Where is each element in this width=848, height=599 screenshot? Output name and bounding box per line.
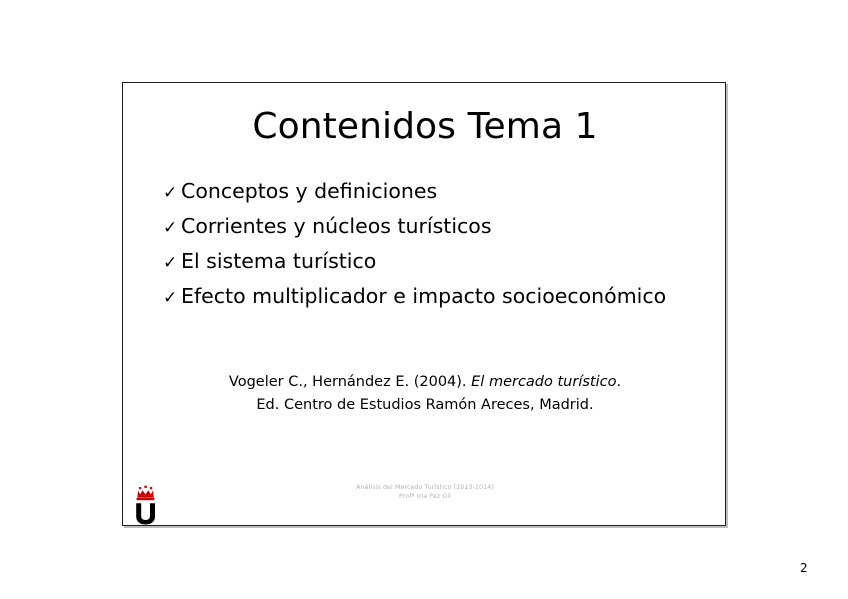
citation-line-1: Vogeler C., Hernández E. (2004). El merc… [123,371,727,394]
logo-letter-u [136,503,155,524]
citation-line-2: Ed. Centro de Estudios Ramón Areces, Mad… [123,394,727,417]
page-number: 2 [800,561,830,575]
page-title: Contenidos Tema 1 [123,107,727,147]
list-item-label: Corrientes y núcleos turísticos [181,214,492,238]
citation-book-title: El mercado turístico [471,374,616,390]
page-canvas: Contenidos Tema 1 ✓Conceptos y definicio… [0,0,848,599]
check-icon: ✓ [163,255,181,272]
footer-course-line: Análisis del Mercado Turístico (2013-201… [123,483,727,492]
citation-block: Vogeler C., Hernández E. (2004). El merc… [123,371,727,418]
list-item: ✓Efecto multiplicador e impacto socioeco… [163,286,723,307]
check-icon: ✓ [163,220,181,237]
urjc-logo [133,485,159,525]
list-item-label: Conceptos y definiciones [181,179,437,203]
slide-footer: Análisis del Mercado Turístico (2013-201… [123,483,727,502]
list-item: ✓El sistema turístico [163,251,723,272]
list-item-label: El sistema turístico [181,249,376,273]
crown-icon [137,486,155,501]
slide-frame: Contenidos Tema 1 ✓Conceptos y definicio… [122,82,726,526]
check-icon: ✓ [163,290,181,307]
check-icon: ✓ [163,185,181,202]
bullet-list: ✓Conceptos y definiciones ✓Corrientes y … [163,181,723,321]
footer-professor-line: Profª Iria Paz Gil [123,492,727,501]
list-item-label: Efecto multiplicador e impacto socioecon… [181,284,666,308]
list-item: ✓Conceptos y definiciones [163,181,723,202]
list-item: ✓Corrientes y núcleos turísticos [163,216,723,237]
citation-authors-year: Vogeler C., Hernández E. (2004). [229,374,471,390]
citation-period: . [616,374,621,390]
